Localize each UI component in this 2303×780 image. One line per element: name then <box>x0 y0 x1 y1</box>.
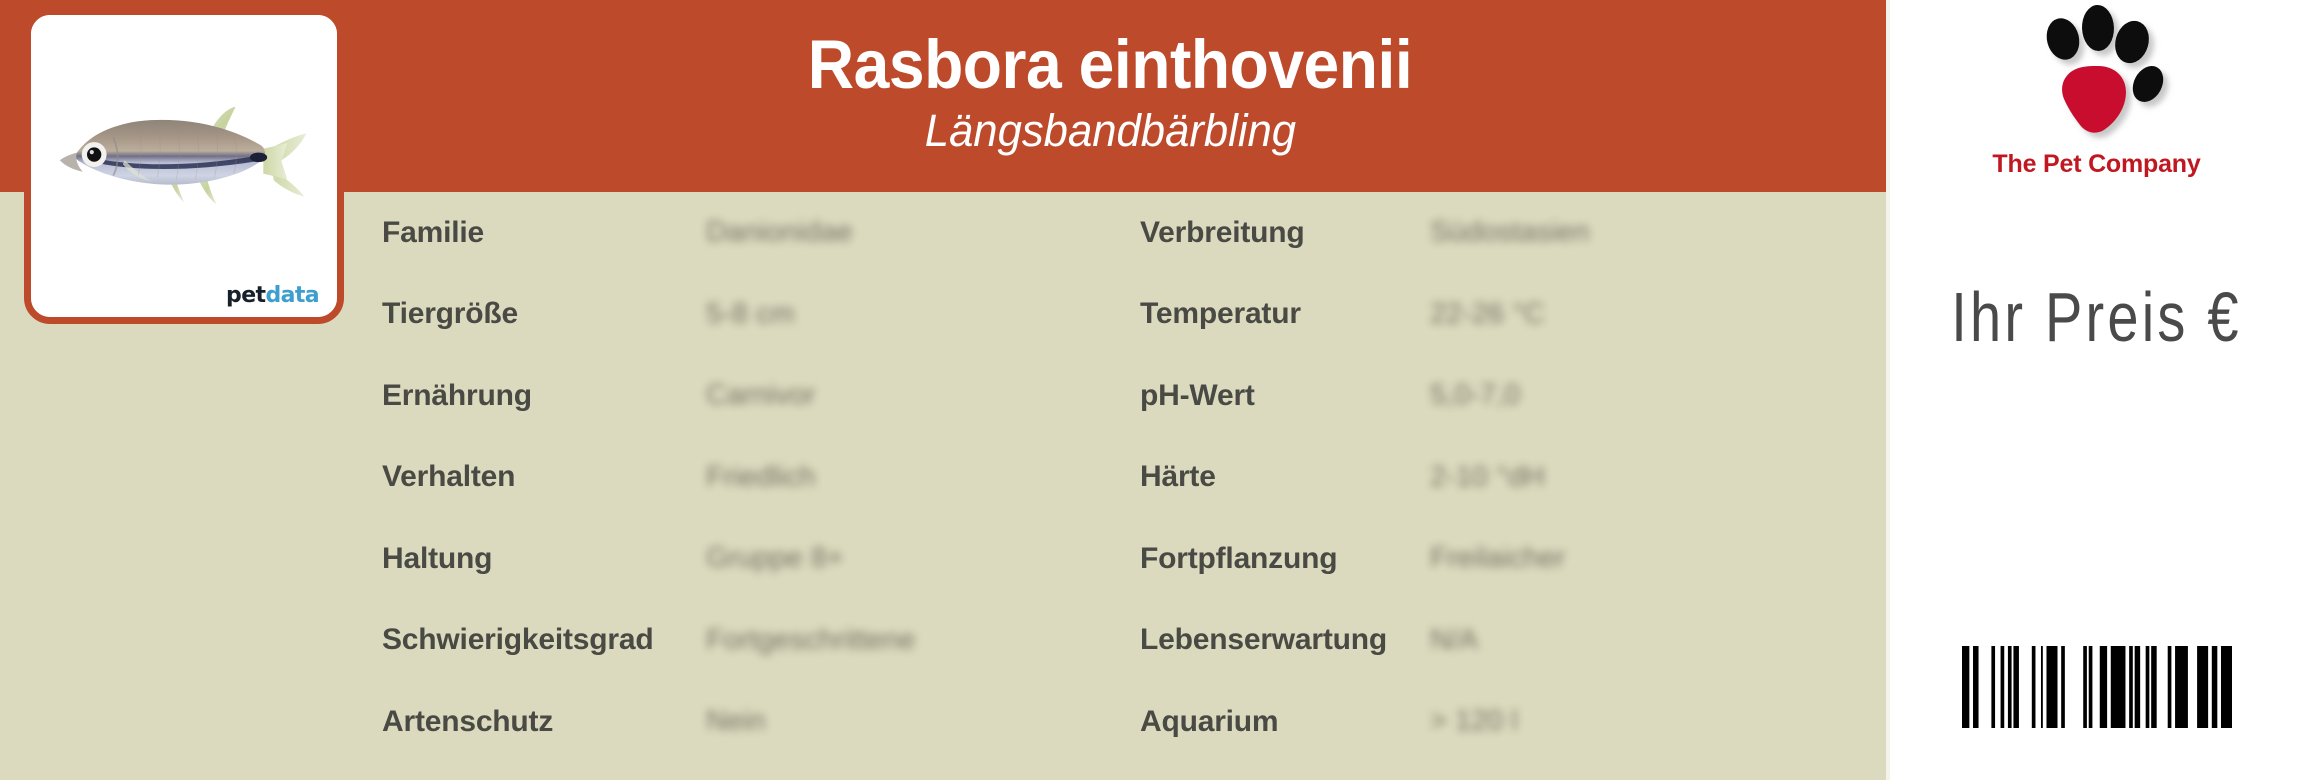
attribute-row: Fortpflanzung Freilaicher <box>1140 518 1890 600</box>
attribute-label: Tiergröße <box>382 297 706 331</box>
species-photo-card: petdata <box>24 8 344 324</box>
paw-print-icon <box>2012 4 2182 154</box>
barcode <box>1890 646 2303 728</box>
attribute-label: Fortpflanzung <box>1140 542 1430 576</box>
page-title: Rasbora einthovenii <box>808 30 1412 100</box>
attribute-value: N/A <box>1430 624 1478 657</box>
attribute-label: Ernährung <box>382 379 706 413</box>
common-name-subtitle: Längsbandbärbling <box>924 106 1295 156</box>
petdata-watermark: petdata <box>226 285 319 307</box>
attribute-column-left: Familie Danionidae Tiergröße 5-8 cm Ernä… <box>382 192 1142 780</box>
attribute-label: Temperatur <box>1140 297 1430 331</box>
attribute-row: Schwierigkeitsgrad Fortgeschrittene <box>382 600 1142 682</box>
attribute-column-right: Verbreitung Südostasien Temperatur 22-26… <box>1140 192 1890 780</box>
attribute-row: Verbreitung Südostasien <box>1140 192 1890 274</box>
attribute-value: Südostasien <box>1430 216 1590 249</box>
attribute-value: 2-10 °dH <box>1430 461 1545 494</box>
attribute-row: Haltung Gruppe 8+ <box>382 518 1142 600</box>
attribute-value: Danionidae <box>706 216 853 249</box>
attribute-label: pH-Wert <box>1140 379 1430 413</box>
attribute-value: 22-26 °C <box>1430 298 1545 331</box>
attribute-label: Artenschutz <box>382 705 706 739</box>
attribute-row: Verhalten Friedlich <box>382 437 1142 519</box>
brand-block: The Pet Company <box>1890 4 2303 214</box>
attribute-label: Aquarium <box>1140 705 1430 739</box>
attribute-value: Gruppe 8+ <box>706 542 844 575</box>
attribute-label: Härte <box>1140 460 1430 494</box>
petdata-watermark-pet: pet <box>226 283 265 308</box>
attribute-value: Freilaicher <box>1430 542 1565 575</box>
attribute-value: Fortgeschrittene <box>706 624 916 657</box>
attribute-row: Artenschutz Nein <box>382 681 1142 763</box>
header-text-block: Rasbora einthovenii Längsbandbärbling <box>330 0 1890 192</box>
attribute-value: Carnivor <box>706 379 816 412</box>
price-label: Ihr Preis € <box>1931 282 2261 352</box>
barcode-image <box>1962 646 2232 728</box>
attribute-row: Ernährung Carnivor <box>382 355 1142 437</box>
attribute-label: Familie <box>382 216 706 250</box>
attribute-value: 5-8 cm <box>706 298 795 331</box>
attribute-row: Aquarium > 120 l <box>1140 681 1890 763</box>
attribute-row: Temperatur 22-26 °C <box>1140 274 1890 356</box>
attribute-value: > 120 l <box>1430 705 1518 738</box>
attribute-value: 5,0-7,0 <box>1430 379 1520 412</box>
brand-name: The Pet Company <box>1992 150 2200 179</box>
attribute-row: Tiergröße 5-8 cm <box>382 274 1142 356</box>
fish-photo-image <box>31 15 337 317</box>
attribute-row: Familie Danionidae <box>382 192 1142 274</box>
attribute-label: Schwierigkeitsgrad <box>382 623 706 657</box>
attribute-row: Härte 2-10 °dH <box>1140 437 1890 519</box>
attribute-row: Lebenserwartung N/A <box>1140 600 1890 682</box>
petdata-watermark-data: data <box>265 283 319 308</box>
pet-shop-species-label: Rasbora einthovenii Längsbandbärbling Fa… <box>0 0 2303 780</box>
attribute-value: Nein <box>706 705 766 738</box>
attribute-label: Verhalten <box>382 460 706 494</box>
attribute-label: Lebenserwartung <box>1140 623 1430 657</box>
attribute-label: Haltung <box>382 542 706 576</box>
attribute-label: Verbreitung <box>1140 216 1430 250</box>
price-panel: The Pet Company Ihr Preis € <box>1890 0 2303 780</box>
attribute-value: Friedlich <box>706 461 816 494</box>
attribute-row: pH-Wert 5,0-7,0 <box>1140 355 1890 437</box>
